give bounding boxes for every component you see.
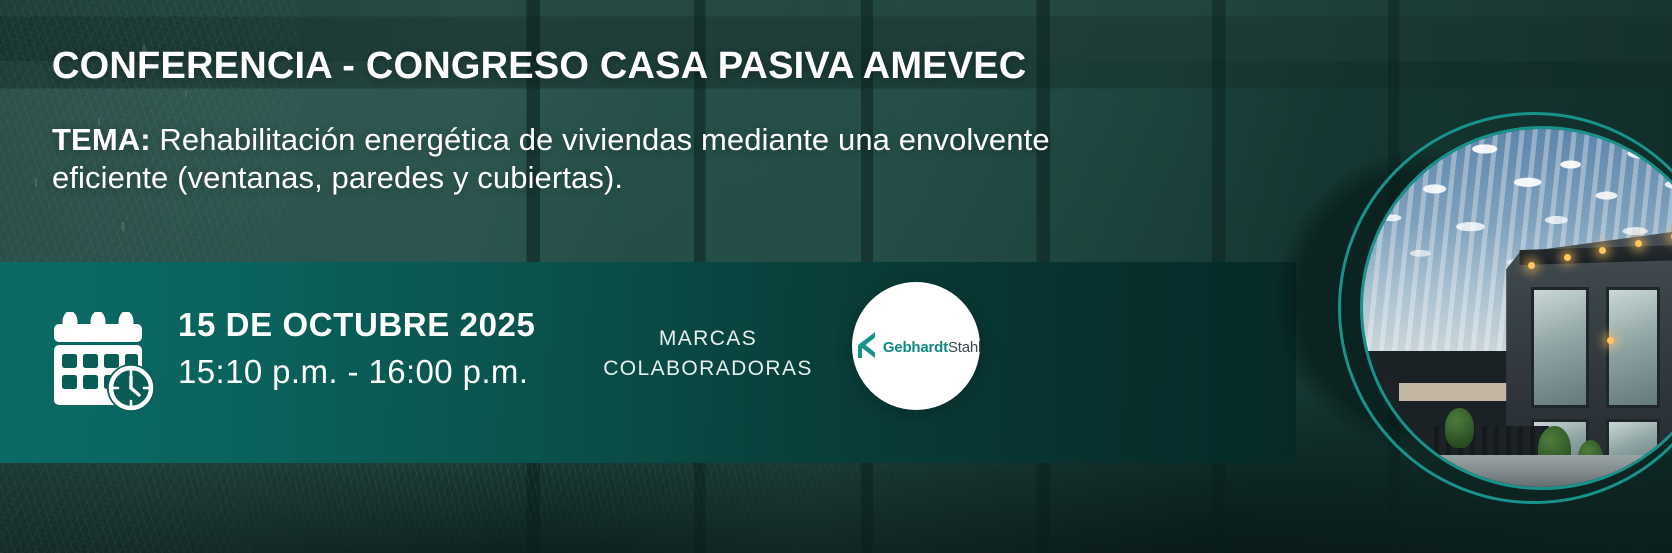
gebhardt-chevron-icon xyxy=(851,330,877,365)
circle-photo-stack xyxy=(1338,112,1672,504)
event-info-bar: 15 DE OCTUBRE 2025 15:10 p.m. - 16:00 p.… xyxy=(0,262,1296,463)
sponsor-logo-badge[interactable]: GebhardtStahl xyxy=(852,282,980,410)
sponsor-logo-text: GebhardtStahl xyxy=(883,339,981,356)
house-photo xyxy=(1360,126,1672,490)
shrub xyxy=(1445,408,1474,447)
brands-label-line1: MARCAS xyxy=(593,324,823,354)
sponsor-name-regular: Stahl xyxy=(948,339,981,356)
topic-description: Rehabilitación energética de viviendas m… xyxy=(52,122,1050,195)
event-time: 15:10 p.m. - 16:00 p.m. xyxy=(178,351,535,392)
page-title: CONFERENCIA - CONGRESO CASA PASIVA AMEVE… xyxy=(52,46,1202,87)
calendar-clock-icon xyxy=(48,312,160,412)
facade-window xyxy=(1531,287,1588,409)
headline-block: CONFERENCIA - CONGRESO CASA PASIVA AMEVE… xyxy=(52,46,1202,197)
event-datetime: 15 DE OCTUBRE 2025 15:10 p.m. - 16:00 p.… xyxy=(178,304,535,393)
facade-window xyxy=(1606,287,1660,409)
sponsor-logo: GebhardtStahl xyxy=(851,330,981,365)
collaborating-brands-label: MARCAS COLABORADORAS xyxy=(593,324,823,385)
driveway xyxy=(1363,455,1672,487)
topic-text: TEMA: Rehabilitación energética de vivie… xyxy=(52,121,1062,197)
house-photo-content xyxy=(1363,129,1672,487)
facade-light xyxy=(1528,262,1535,269)
facade-light xyxy=(1607,337,1614,344)
topic-label: TEMA: xyxy=(52,122,151,157)
brands-label-line2: COLABORADORAS xyxy=(593,354,823,384)
sponsor-name-bold: Gebhardt xyxy=(883,339,948,356)
event-date: 15 DE OCTUBRE 2025 xyxy=(178,304,535,345)
conference-banner: CONFERENCIA - CONGRESO CASA PASIVA AMEVE… xyxy=(0,0,1672,553)
